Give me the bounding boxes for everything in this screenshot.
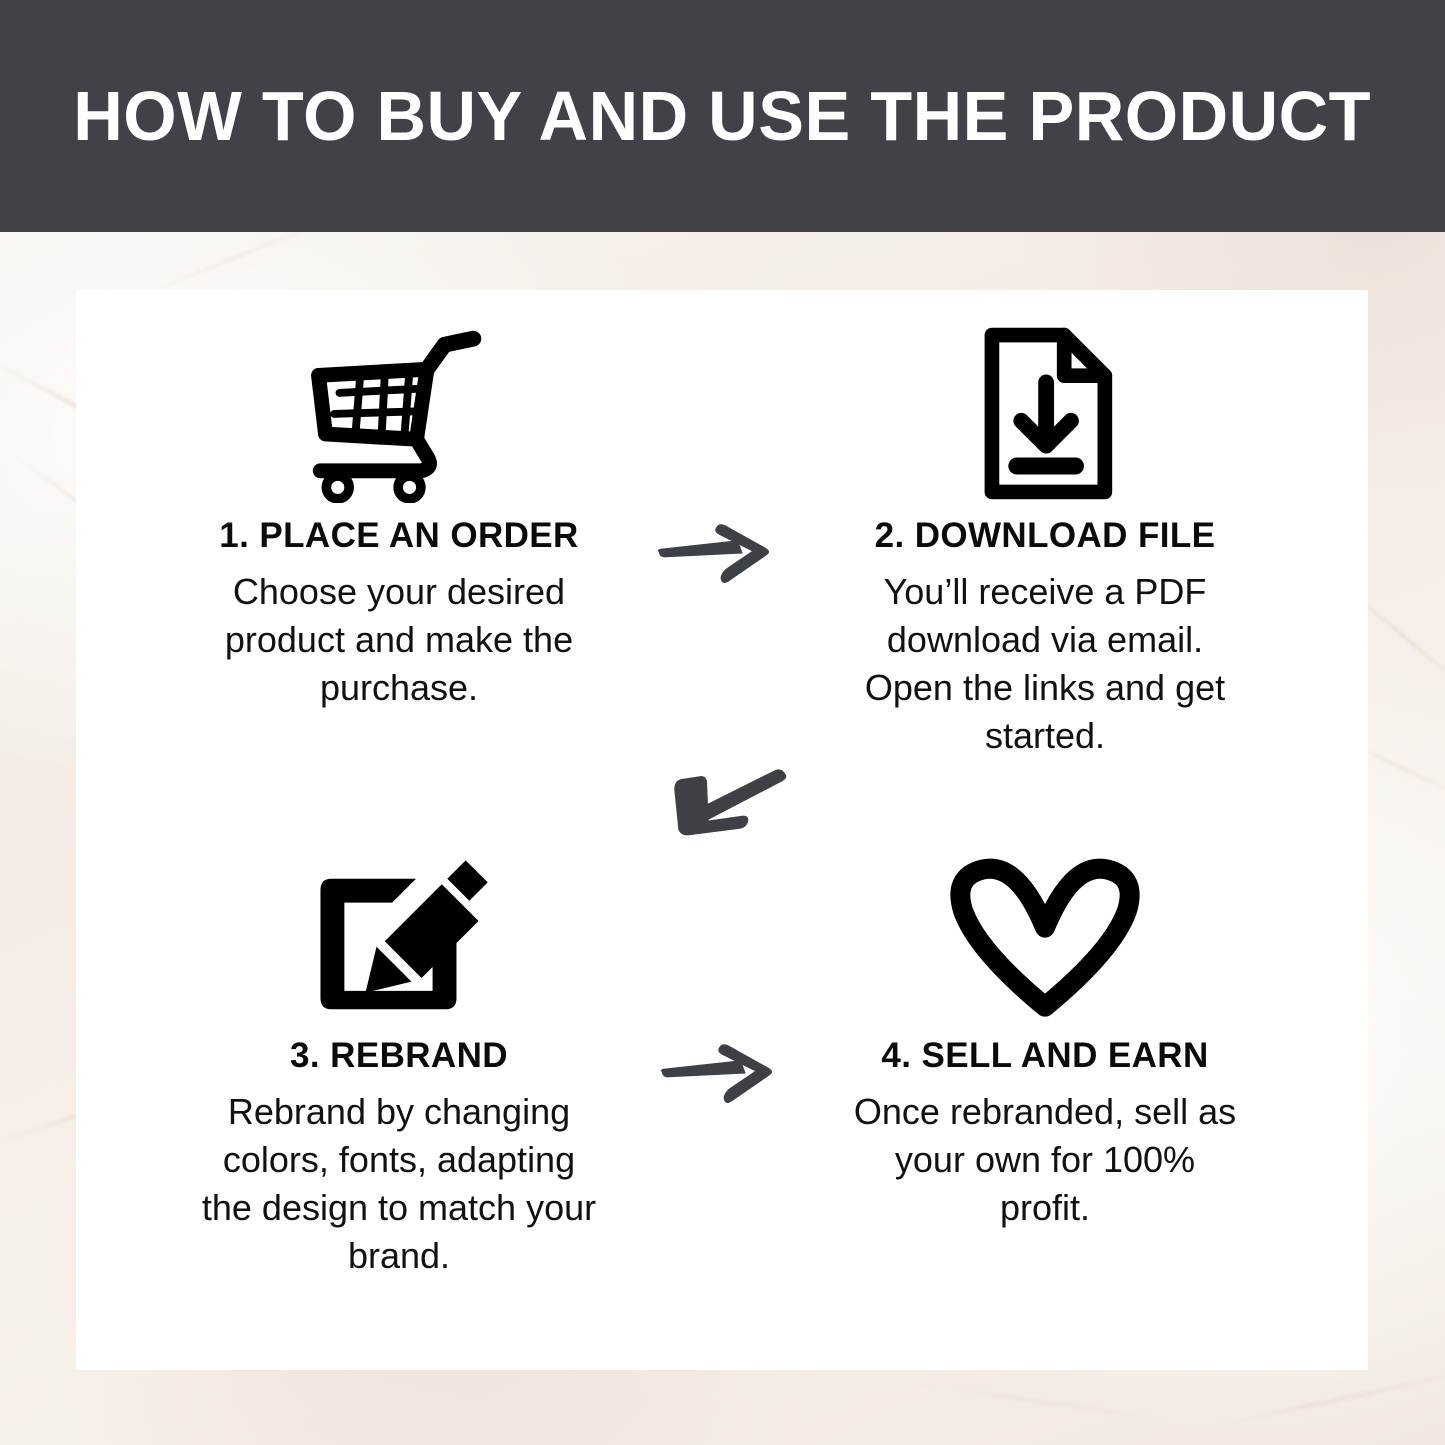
header-bar: HOW TO BUY AND USE THE PRODUCT — [0, 0, 1445, 232]
step-2-body: You’ll receive a PDF download via email.… — [845, 568, 1245, 760]
shopping-cart-icon — [294, 318, 504, 508]
marble-vein — [1203, 1364, 1445, 1430]
marble-vein — [901, 1381, 1179, 1423]
file-download-icon — [970, 318, 1120, 508]
step-4-heading: 4. SELL AND EARN — [881, 1036, 1208, 1076]
steps-grid: 1. PLACE AN ORDER Choose your desired pr… — [76, 290, 1368, 1370]
step-1-body: Choose your desired product and make the… — [199, 568, 599, 712]
step-1-heading: 1. PLACE AN ORDER — [219, 516, 578, 556]
page-title: HOW TO BUY AND USE THE PRODUCT — [74, 76, 1372, 156]
heart-icon — [945, 848, 1145, 1028]
step-3: 3. REBRAND Rebrand by changing colors, f… — [76, 830, 722, 1370]
step-3-heading: 3. REBRAND — [290, 1036, 508, 1076]
step-4-body: Once rebranded, sell as your own for 100… — [845, 1088, 1245, 1232]
step-2: 2. DOWNLOAD FILE You’ll receive a PDF do… — [722, 290, 1368, 830]
content-card: 1. PLACE AN ORDER Choose your desired pr… — [76, 290, 1368, 1370]
step-4: 4. SELL AND EARN Once rebranded, sell as… — [722, 830, 1368, 1370]
step-3-body: Rebrand by changing colors, fonts, adapt… — [199, 1088, 599, 1280]
step-1: 1. PLACE AN ORDER Choose your desired pr… — [76, 290, 722, 830]
step-2-heading: 2. DOWNLOAD FILE — [875, 516, 1216, 556]
edit-pencil-icon — [307, 848, 492, 1028]
